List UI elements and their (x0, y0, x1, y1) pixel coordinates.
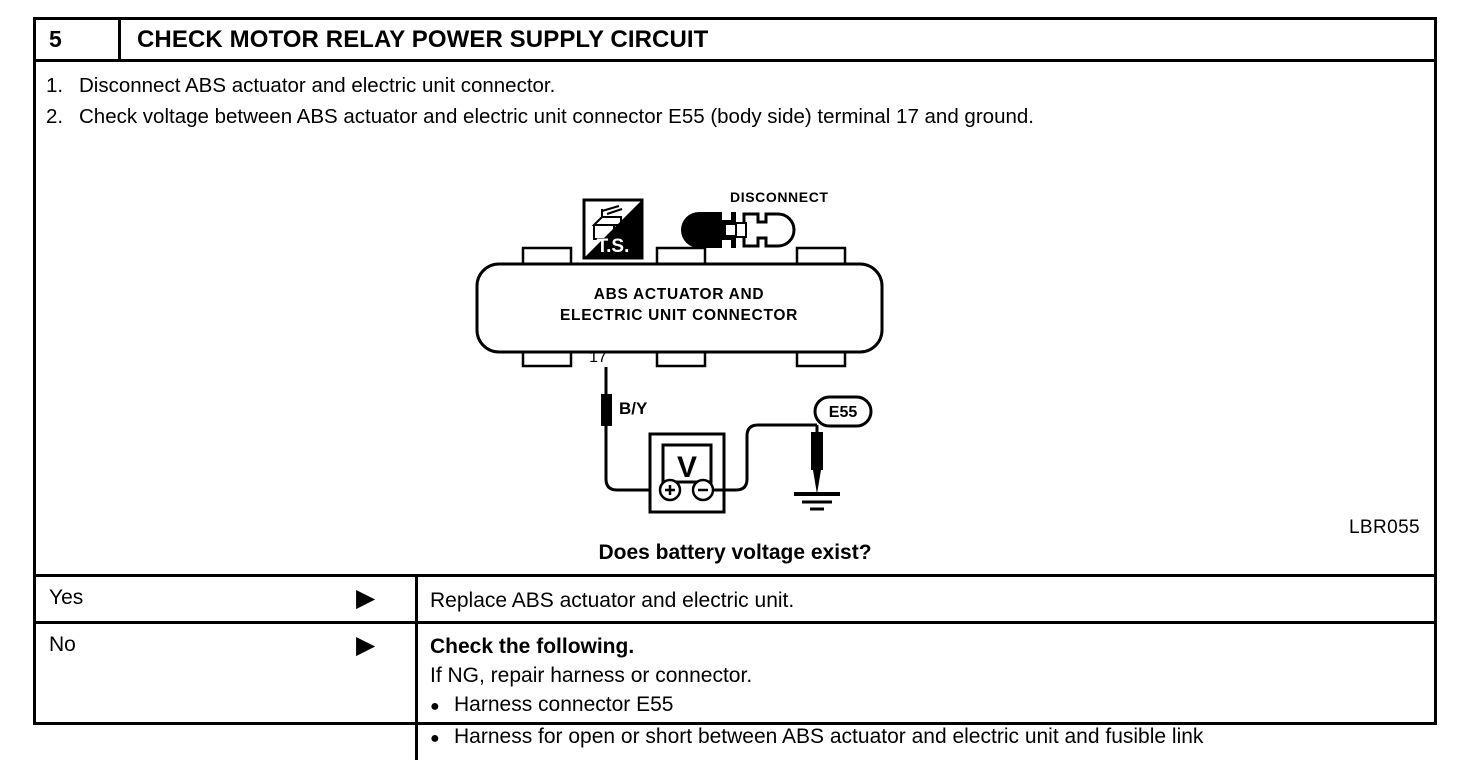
connector-badge-e55: E55 (815, 397, 871, 426)
instruction-number: 2. (46, 101, 79, 132)
positive-test-probe: B/Y (601, 367, 648, 474)
ts-icon: T.S. (584, 200, 642, 258)
bullet-dot-icon: ● (430, 724, 454, 754)
positive-lead-wire (606, 474, 661, 490)
instruction-item: 2. Check voltage between ABS actuator an… (46, 101, 1416, 132)
arrow-right-icon: ▶ (356, 586, 375, 611)
action-bullet-item: ● Harness for open or short between ABS … (430, 722, 1434, 754)
instruction-text: Check voltage between ABS actuator and e… (79, 101, 1416, 132)
wiring-test-figure: T.S. DISCONNECT (36, 62, 1434, 574)
action-bullet-text: Harness for open or short between ABS ac… (454, 722, 1203, 752)
step-body: 1. Disconnect ABS actuator and electric … (36, 62, 1434, 577)
result-answer-no: No ▶ (36, 624, 418, 760)
action-line: If NG, repair harness or connector. (430, 661, 1434, 690)
page-root: 5 CHECK MOTOR RELAY POWER SUPPLY CIRCUIT… (0, 0, 1472, 744)
instruction-item: 1. Disconnect ABS actuator and electric … (46, 70, 1416, 101)
diagnostic-step-frame: 5 CHECK MOTOR RELAY POWER SUPPLY CIRCUIT… (33, 17, 1437, 725)
svg-text:DISCONNECT: DISCONNECT (730, 189, 829, 205)
terminal-17-label: 17 (589, 349, 607, 366)
figure-code: LBR055 (1349, 517, 1420, 539)
step-header: 5 CHECK MOTOR RELAY POWER SUPPLY CIRCUIT (36, 20, 1434, 62)
result-answer-label: No (49, 633, 76, 656)
step-title: CHECK MOTOR RELAY POWER SUPPLY CIRCUIT (121, 26, 1434, 54)
diagnostic-question: Does battery voltage exist? (36, 541, 1434, 574)
disconnect-icon: DISCONNECT (681, 189, 829, 248)
action-line: Replace ABS actuator and electric unit. (430, 586, 1434, 615)
abs-connector-body: ABS ACTUATOR AND ELECTRIC UNIT CONNECTOR (477, 248, 882, 366)
svg-text:V: V (677, 451, 697, 484)
instruction-number: 1. (46, 70, 79, 101)
svg-text:17: 17 (589, 349, 607, 366)
voltmeter: V (650, 434, 724, 512)
result-answer-label: Yes (49, 586, 83, 609)
bullet-dot-icon: ● (430, 692, 454, 722)
svg-text:E55: E55 (829, 404, 858, 421)
negative-lead-wire (713, 425, 817, 490)
result-action-yes: Replace ABS actuator and electric unit. (418, 577, 1434, 621)
svg-text:ELECTRIC UNIT CONNECTOR: ELECTRIC UNIT CONNECTOR (560, 307, 798, 324)
result-row-no: No ▶ Check the following. If NG, repair … (36, 624, 1434, 760)
ground-test-probe (811, 425, 823, 494)
action-title: Check the following. (430, 633, 1434, 661)
step-number: 5 (36, 20, 121, 59)
arrow-right-icon: ▶ (356, 633, 375, 658)
result-action-no: Check the following. If NG, repair harne… (418, 624, 1434, 760)
result-row-yes: Yes ▶ Replace ABS actuator and electric … (36, 577, 1434, 624)
svg-text:B/Y: B/Y (619, 399, 648, 418)
ground-symbol (794, 494, 840, 509)
action-bullet-text: Harness connector E55 (454, 690, 673, 720)
instruction-list: 1. Disconnect ABS actuator and electric … (46, 70, 1416, 132)
instruction-text: Disconnect ABS actuator and electric uni… (79, 70, 1416, 101)
action-bullet-item: ● Harness connector E55 (430, 690, 1434, 722)
svg-text:T.S.: T.S. (597, 236, 630, 257)
svg-text:ABS ACTUATOR AND: ABS ACTUATOR AND (594, 286, 765, 303)
result-answer-yes: Yes ▶ (36, 577, 418, 621)
